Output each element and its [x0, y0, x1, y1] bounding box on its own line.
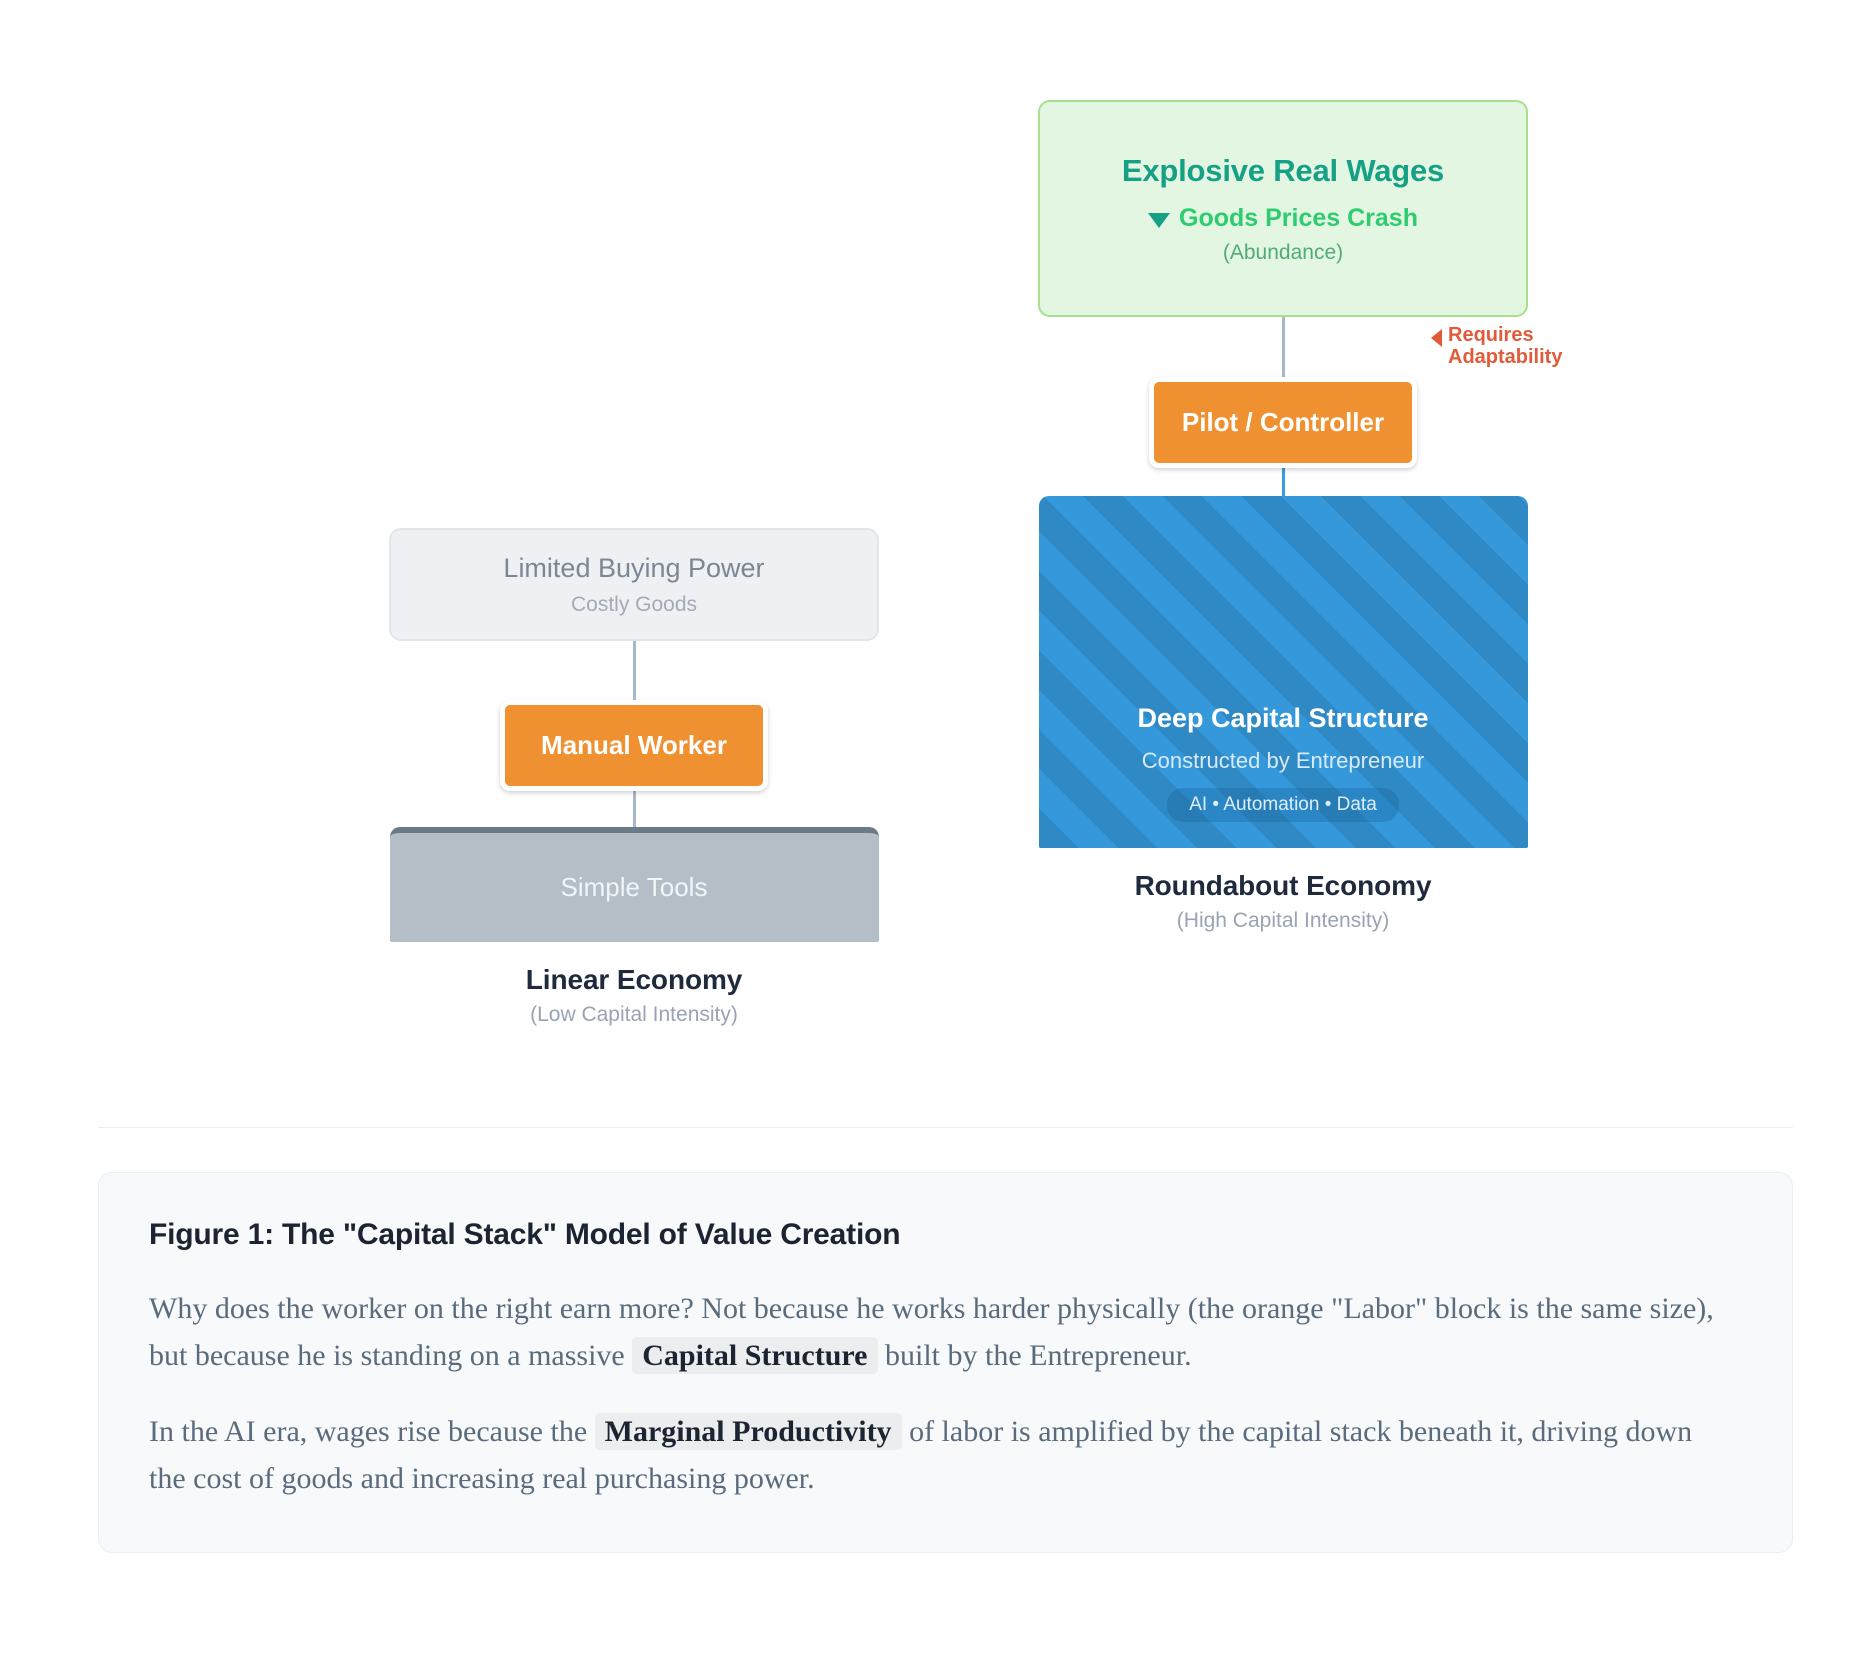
figure-caption-paragraph-2: In the AI era, wages rise because the Ma… [149, 1409, 1729, 1502]
column-roundabout-economy: Explosive Real Wages Goods Prices Crash … [1038, 100, 1528, 933]
section-divider [98, 1127, 1793, 1128]
outcome-title: Limited Buying Power [503, 553, 764, 584]
labor-block-pilot-controller[interactable]: Pilot / Controller Requires Adaptability [1149, 377, 1417, 468]
capital-tags-chip: AI • Automation • Data [1167, 788, 1399, 822]
figure-stage: Limited Buying Power Costly Goods Manual… [0, 0, 1860, 1672]
outcome-subtitle: Goods Prices Crash [1179, 204, 1418, 233]
outcome-subtitle-row: Goods Prices Crash [1148, 204, 1418, 233]
connector-outcome-to-labor [633, 641, 636, 700]
triangle-down-icon [1148, 213, 1170, 228]
paragraph-2-text-before: In the AI era, wages rise because the [149, 1415, 595, 1448]
column-linear-economy: Limited Buying Power Costly Goods Manual… [389, 528, 879, 1027]
figure-caption-title: Figure 1: The "Capital Stack" Model of V… [149, 1218, 1742, 1252]
labor-label: Manual Worker [541, 730, 727, 761]
labor-annotation-requires-adaptability: Requires Adaptability [1431, 324, 1576, 369]
capital-label: Simple Tools [561, 872, 708, 903]
labor-row-linear: Manual Worker [389, 700, 879, 791]
outcome-note: (Abundance) [1223, 241, 1343, 265]
figure-caption-card: Figure 1: The "Capital Stack" Model of V… [98, 1172, 1793, 1553]
column-subtitle: (Low Capital Intensity) [526, 1003, 742, 1027]
column-name: Roundabout Economy [1135, 870, 1432, 902]
column-caption-linear: Linear Economy (Low Capital Intensity) [526, 964, 742, 1027]
labor-annotation-text: Requires Adaptability [1448, 324, 1576, 369]
labor-label: Pilot / Controller [1182, 407, 1384, 438]
labor-row-roundabout: Pilot / Controller Requires Adaptability [1038, 377, 1528, 468]
capital-block-deep-capital-structure: Deep Capital Structure Constructed by En… [1039, 496, 1528, 848]
outcome-title: Explosive Real Wages [1122, 153, 1444, 189]
capital-title: Deep Capital Structure [1137, 703, 1428, 734]
figure-caption-paragraph-1: Why does the worker on the right earn mo… [149, 1286, 1729, 1379]
outcome-box-limited-buying-power: Limited Buying Power Costly Goods [389, 528, 879, 641]
outcome-box-explosive-real-wages: Explosive Real Wages Goods Prices Crash … [1038, 100, 1528, 317]
keyword-marginal-productivity: Marginal Productivity [595, 1413, 902, 1450]
column-caption-roundabout: Roundabout Economy (High Capital Intensi… [1135, 870, 1432, 933]
paragraph-1-text-after: built by the Entrepreneur. [878, 1339, 1192, 1372]
connector-outcome-to-labor [1282, 317, 1285, 377]
capital-stack-diagram: Limited Buying Power Costly Goods Manual… [98, 60, 1793, 1120]
outcome-note: Costly Goods [571, 593, 697, 617]
labor-block-manual-worker[interactable]: Manual Worker [500, 700, 768, 791]
capital-block-simple-tools: Simple Tools [390, 827, 879, 942]
triangle-left-icon [1431, 329, 1442, 347]
column-name: Linear Economy [526, 964, 742, 996]
capital-subtitle: Constructed by Entrepreneur [1142, 748, 1425, 774]
column-subtitle: (High Capital Intensity) [1135, 909, 1432, 933]
keyword-capital-structure: Capital Structure [632, 1337, 877, 1374]
connector-labor-to-capital [633, 786, 636, 827]
